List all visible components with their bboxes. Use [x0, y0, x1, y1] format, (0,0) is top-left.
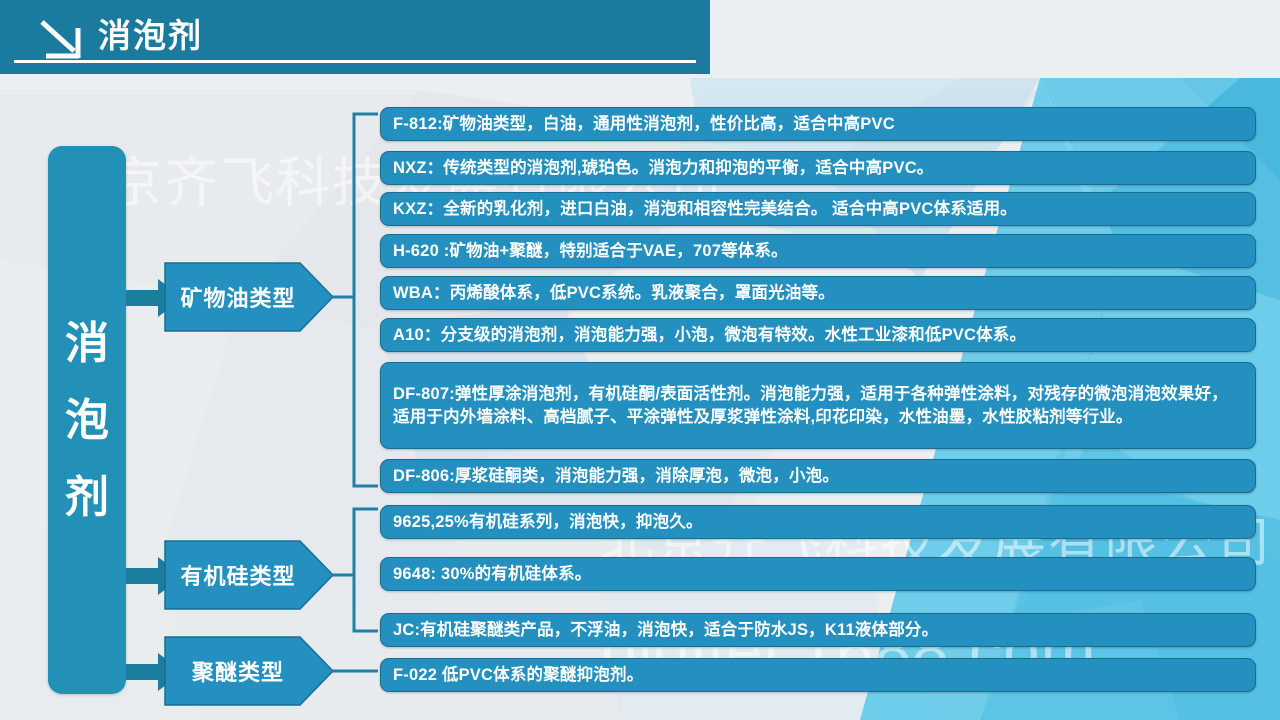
arrow-down-right-icon — [38, 18, 86, 62]
detail-text: WBA：丙烯酸体系，低PVC系统。乳液聚合，罩面光油等。 — [381, 282, 1255, 304]
category-silicone[interactable]: 有机硅类型 — [164, 540, 334, 610]
detail-item-kxz[interactable]: KXZ：全新的乳化剂，进口白油，消泡和相容性完美结合。 适合中高PVC体系适用。 — [380, 192, 1256, 226]
page-title: 消泡剂 — [98, 14, 203, 58]
root-char-3: 剂 — [65, 459, 109, 536]
root-node-defoamer: 消 泡 剂 — [48, 146, 126, 694]
bracket-silicone — [332, 505, 380, 635]
category-label: 有机硅类型 — [164, 559, 334, 591]
detail-text: F-812:矿物油类型，白油，通用性消泡剂，性价比高，适合中高PVC — [381, 113, 1255, 135]
slide-canvas: 北京齐飞科技发展有限公司 北京齐飞科技发展有限公司 bjqifei.1688.c… — [0, 0, 1280, 720]
bracket-polyether — [332, 662, 380, 680]
detail-item-a10[interactable]: A10：分支级的消泡剂，消泡能力强，小泡，微泡有特效。水性工业漆和低PVC体系。 — [380, 318, 1256, 352]
detail-text: A10：分支级的消泡剂，消泡能力强，小泡，微泡有特效。水性工业漆和低PVC体系。 — [381, 324, 1255, 346]
bracket-mineral-oil — [332, 110, 380, 490]
header-underline — [14, 60, 696, 63]
detail-text: NXZ：传统类型的消泡剂,琥珀色。消泡力和抑泡的平衡，适合中高PVC。 — [381, 157, 1255, 179]
detail-item-jc[interactable]: JC:有机硅聚醚类产品，不浮油，消泡快，适合于防水JS，K11液体部分。 — [380, 613, 1256, 647]
detail-item-df806[interactable]: DF-806:厚浆硅酮类，消泡能力强，消除厚泡，微泡，小泡。 — [380, 459, 1256, 493]
detail-item-9625[interactable]: 9625,25%有机硅系列，消泡快，抑泡久。 — [380, 505, 1256, 539]
detail-item-f022[interactable]: F-022 低PVC体系的聚醚抑泡剂。 — [380, 658, 1256, 692]
detail-item-f812[interactable]: F-812:矿物油类型，白油，通用性消泡剂，性价比高，适合中高PVC — [380, 107, 1256, 141]
detail-text: JC:有机硅聚醚类产品，不浮油，消泡快，适合于防水JS，K11液体部分。 — [381, 619, 1255, 641]
detail-text: KXZ：全新的乳化剂，进口白油，消泡和相容性完美结合。 适合中高PVC体系适用。 — [381, 198, 1255, 220]
category-label: 矿物油类型 — [164, 281, 334, 313]
detail-text: 9648: 30%的有机硅体系。 — [381, 563, 1255, 585]
category-polyether[interactable]: 聚醚类型 — [164, 636, 334, 706]
detail-text: F-022 低PVC体系的聚醚抑泡剂。 — [381, 664, 1255, 686]
category-label: 聚醚类型 — [164, 655, 334, 687]
category-mineral-oil[interactable]: 矿物油类型 — [164, 262, 334, 332]
detail-item-nxz[interactable]: NXZ：传统类型的消泡剂,琥珀色。消泡力和抑泡的平衡，适合中高PVC。 — [380, 151, 1256, 185]
detail-item-df807[interactable]: DF-807:弹性厚涂消泡剂，有机硅酮/表面活性剂。消泡能力强，适用于各种弹性涂… — [380, 362, 1256, 449]
detail-text: H-620 :矿物油+聚醚，特别适合于VAE，707等体系。 — [381, 240, 1255, 262]
detail-text: DF-807:弹性厚涂消泡剂，有机硅酮/表面活性剂。消泡能力强，适用于各种弹性涂… — [381, 383, 1255, 429]
detail-text: 9625,25%有机硅系列，消泡快，抑泡久。 — [381, 511, 1255, 533]
detail-text: DF-806:厚浆硅酮类，消泡能力强，消除厚泡，微泡，小泡。 — [381, 465, 1255, 487]
detail-item-h620[interactable]: H-620 :矿物油+聚醚，特别适合于VAE，707等体系。 — [380, 234, 1256, 268]
detail-item-9648[interactable]: 9648: 30%的有机硅体系。 — [380, 557, 1256, 591]
root-char-1: 消 — [65, 305, 109, 382]
root-char-2: 泡 — [65, 382, 109, 459]
detail-item-wba[interactable]: WBA：丙烯酸体系，低PVC系统。乳液聚合，罩面光油等。 — [380, 276, 1256, 310]
